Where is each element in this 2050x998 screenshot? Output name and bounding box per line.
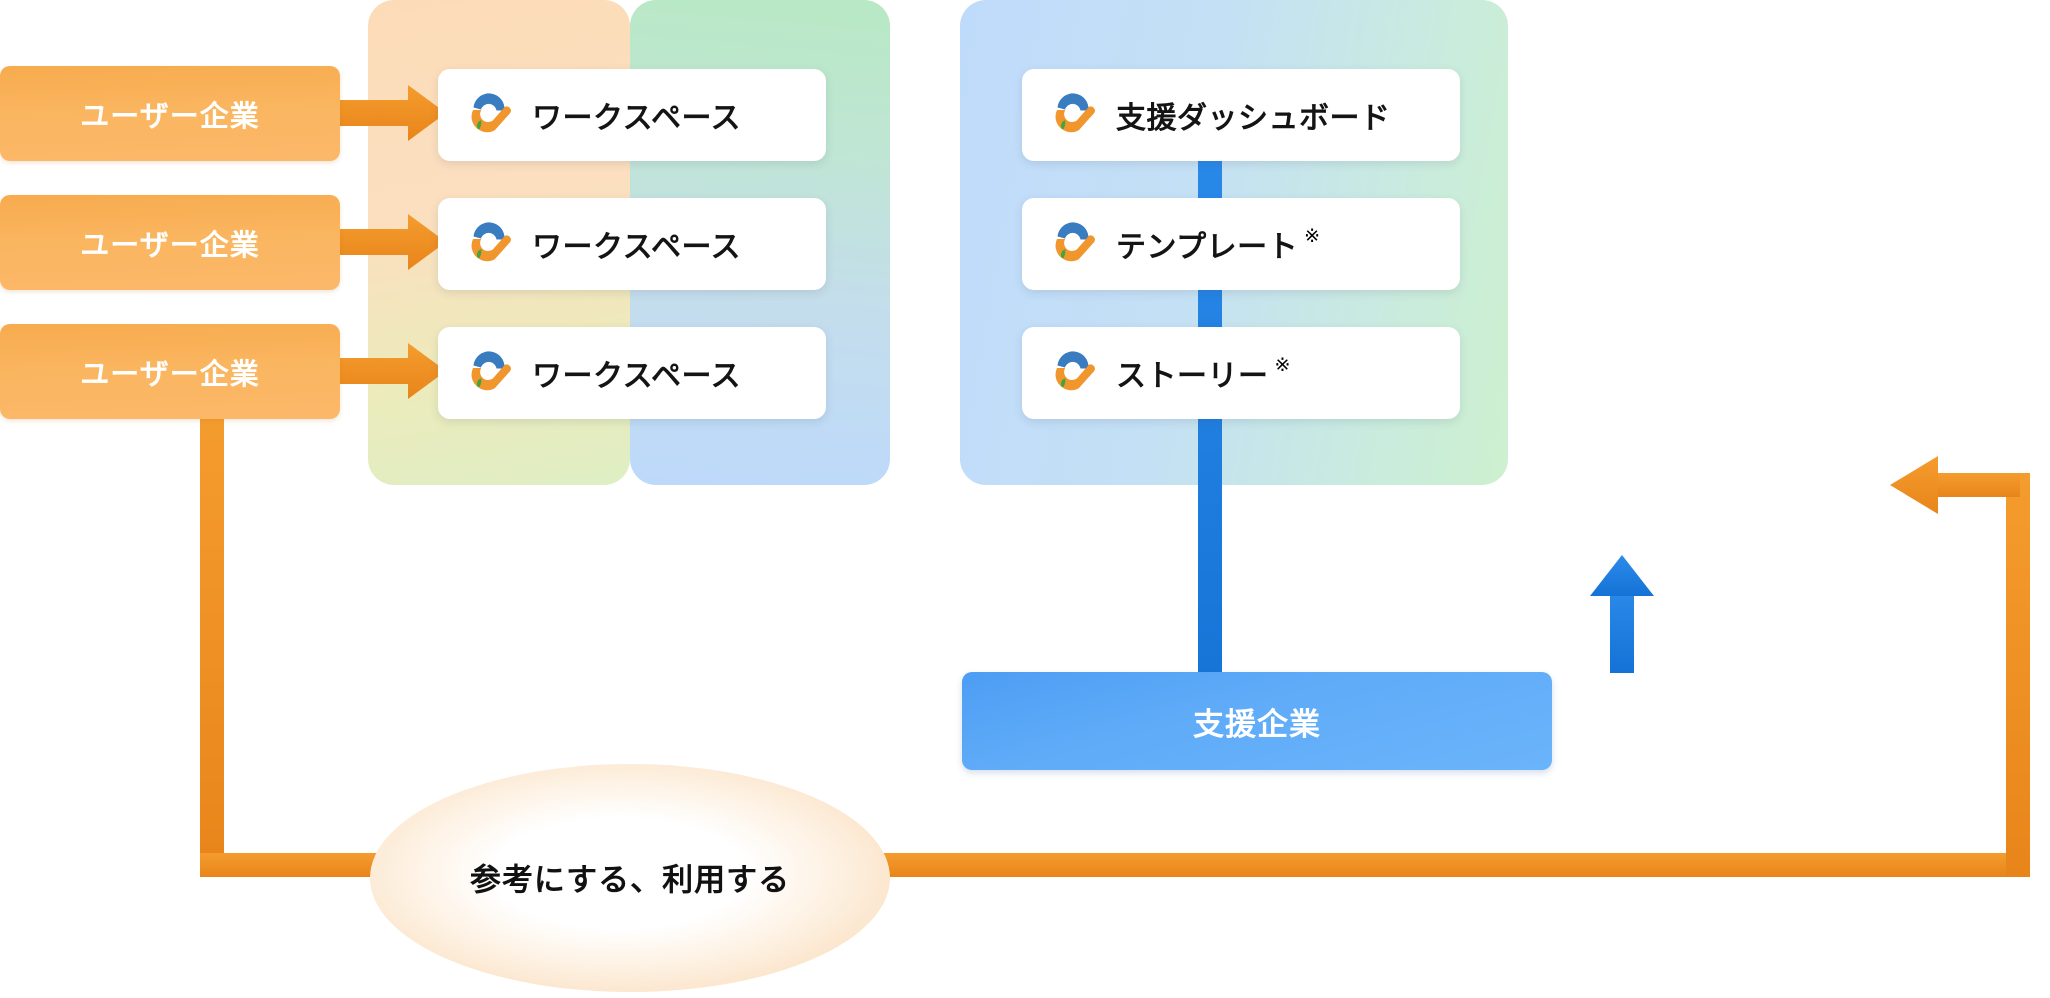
template-card[interactable]: テンプレート ※ xyxy=(1022,198,1460,290)
user-company-box[interactable]: ユーザー企業 xyxy=(0,195,340,290)
user-company-box[interactable]: ユーザー企業 xyxy=(0,66,340,161)
brand-logo-icon xyxy=(1048,90,1098,140)
brand-logo-icon xyxy=(464,219,514,269)
brand-logo-icon xyxy=(1048,219,1098,269)
footnote-mark: ※ xyxy=(1275,354,1291,377)
user-company-label: ユーザー企業 xyxy=(80,93,259,135)
reference-bubble-label: 参考にする、利用する xyxy=(370,855,890,900)
support-card-label: 支援ダッシュボード xyxy=(1116,93,1391,137)
brand-logo-icon xyxy=(1048,348,1098,398)
support-card-label: テンプレート xyxy=(1116,222,1298,266)
workspace-card[interactable]: ワークスペース xyxy=(438,69,826,161)
workspace-card-label: ワークスペース xyxy=(532,351,741,395)
support-to-story-arrow xyxy=(1590,555,1654,673)
support-dashboard-card[interactable]: 支援ダッシュボード xyxy=(1022,69,1460,161)
brand-logo-icon xyxy=(464,348,514,398)
workspace-card-label: ワークスペース xyxy=(532,93,741,137)
support-company-label: 支援企業 xyxy=(1193,699,1321,744)
workspace-card[interactable]: ワークスペース xyxy=(438,327,826,419)
diagram-canvas: ユーザー企業 ユーザー企業 ユーザー企業 ワークスペース ワークスペース ワーク… xyxy=(0,0,2050,998)
user-company-box[interactable]: ユーザー企業 xyxy=(0,324,340,419)
story-card[interactable]: ストーリー ※ xyxy=(1022,327,1460,419)
user-company-label: ユーザー企業 xyxy=(80,351,259,393)
reference-bubble: 参考にする、利用する xyxy=(370,764,890,992)
workspace-card-label: ワークスペース xyxy=(532,222,741,266)
user-company-label: ユーザー企業 xyxy=(80,222,259,264)
bubble-to-story-arrow xyxy=(800,456,2030,877)
support-company-box[interactable]: 支援企業 xyxy=(962,672,1552,770)
brand-logo-icon xyxy=(464,90,514,140)
support-card-label: ストーリー xyxy=(1116,351,1269,395)
footnote-mark: ※ xyxy=(1304,225,1320,248)
workspace-card[interactable]: ワークスペース xyxy=(438,198,826,290)
